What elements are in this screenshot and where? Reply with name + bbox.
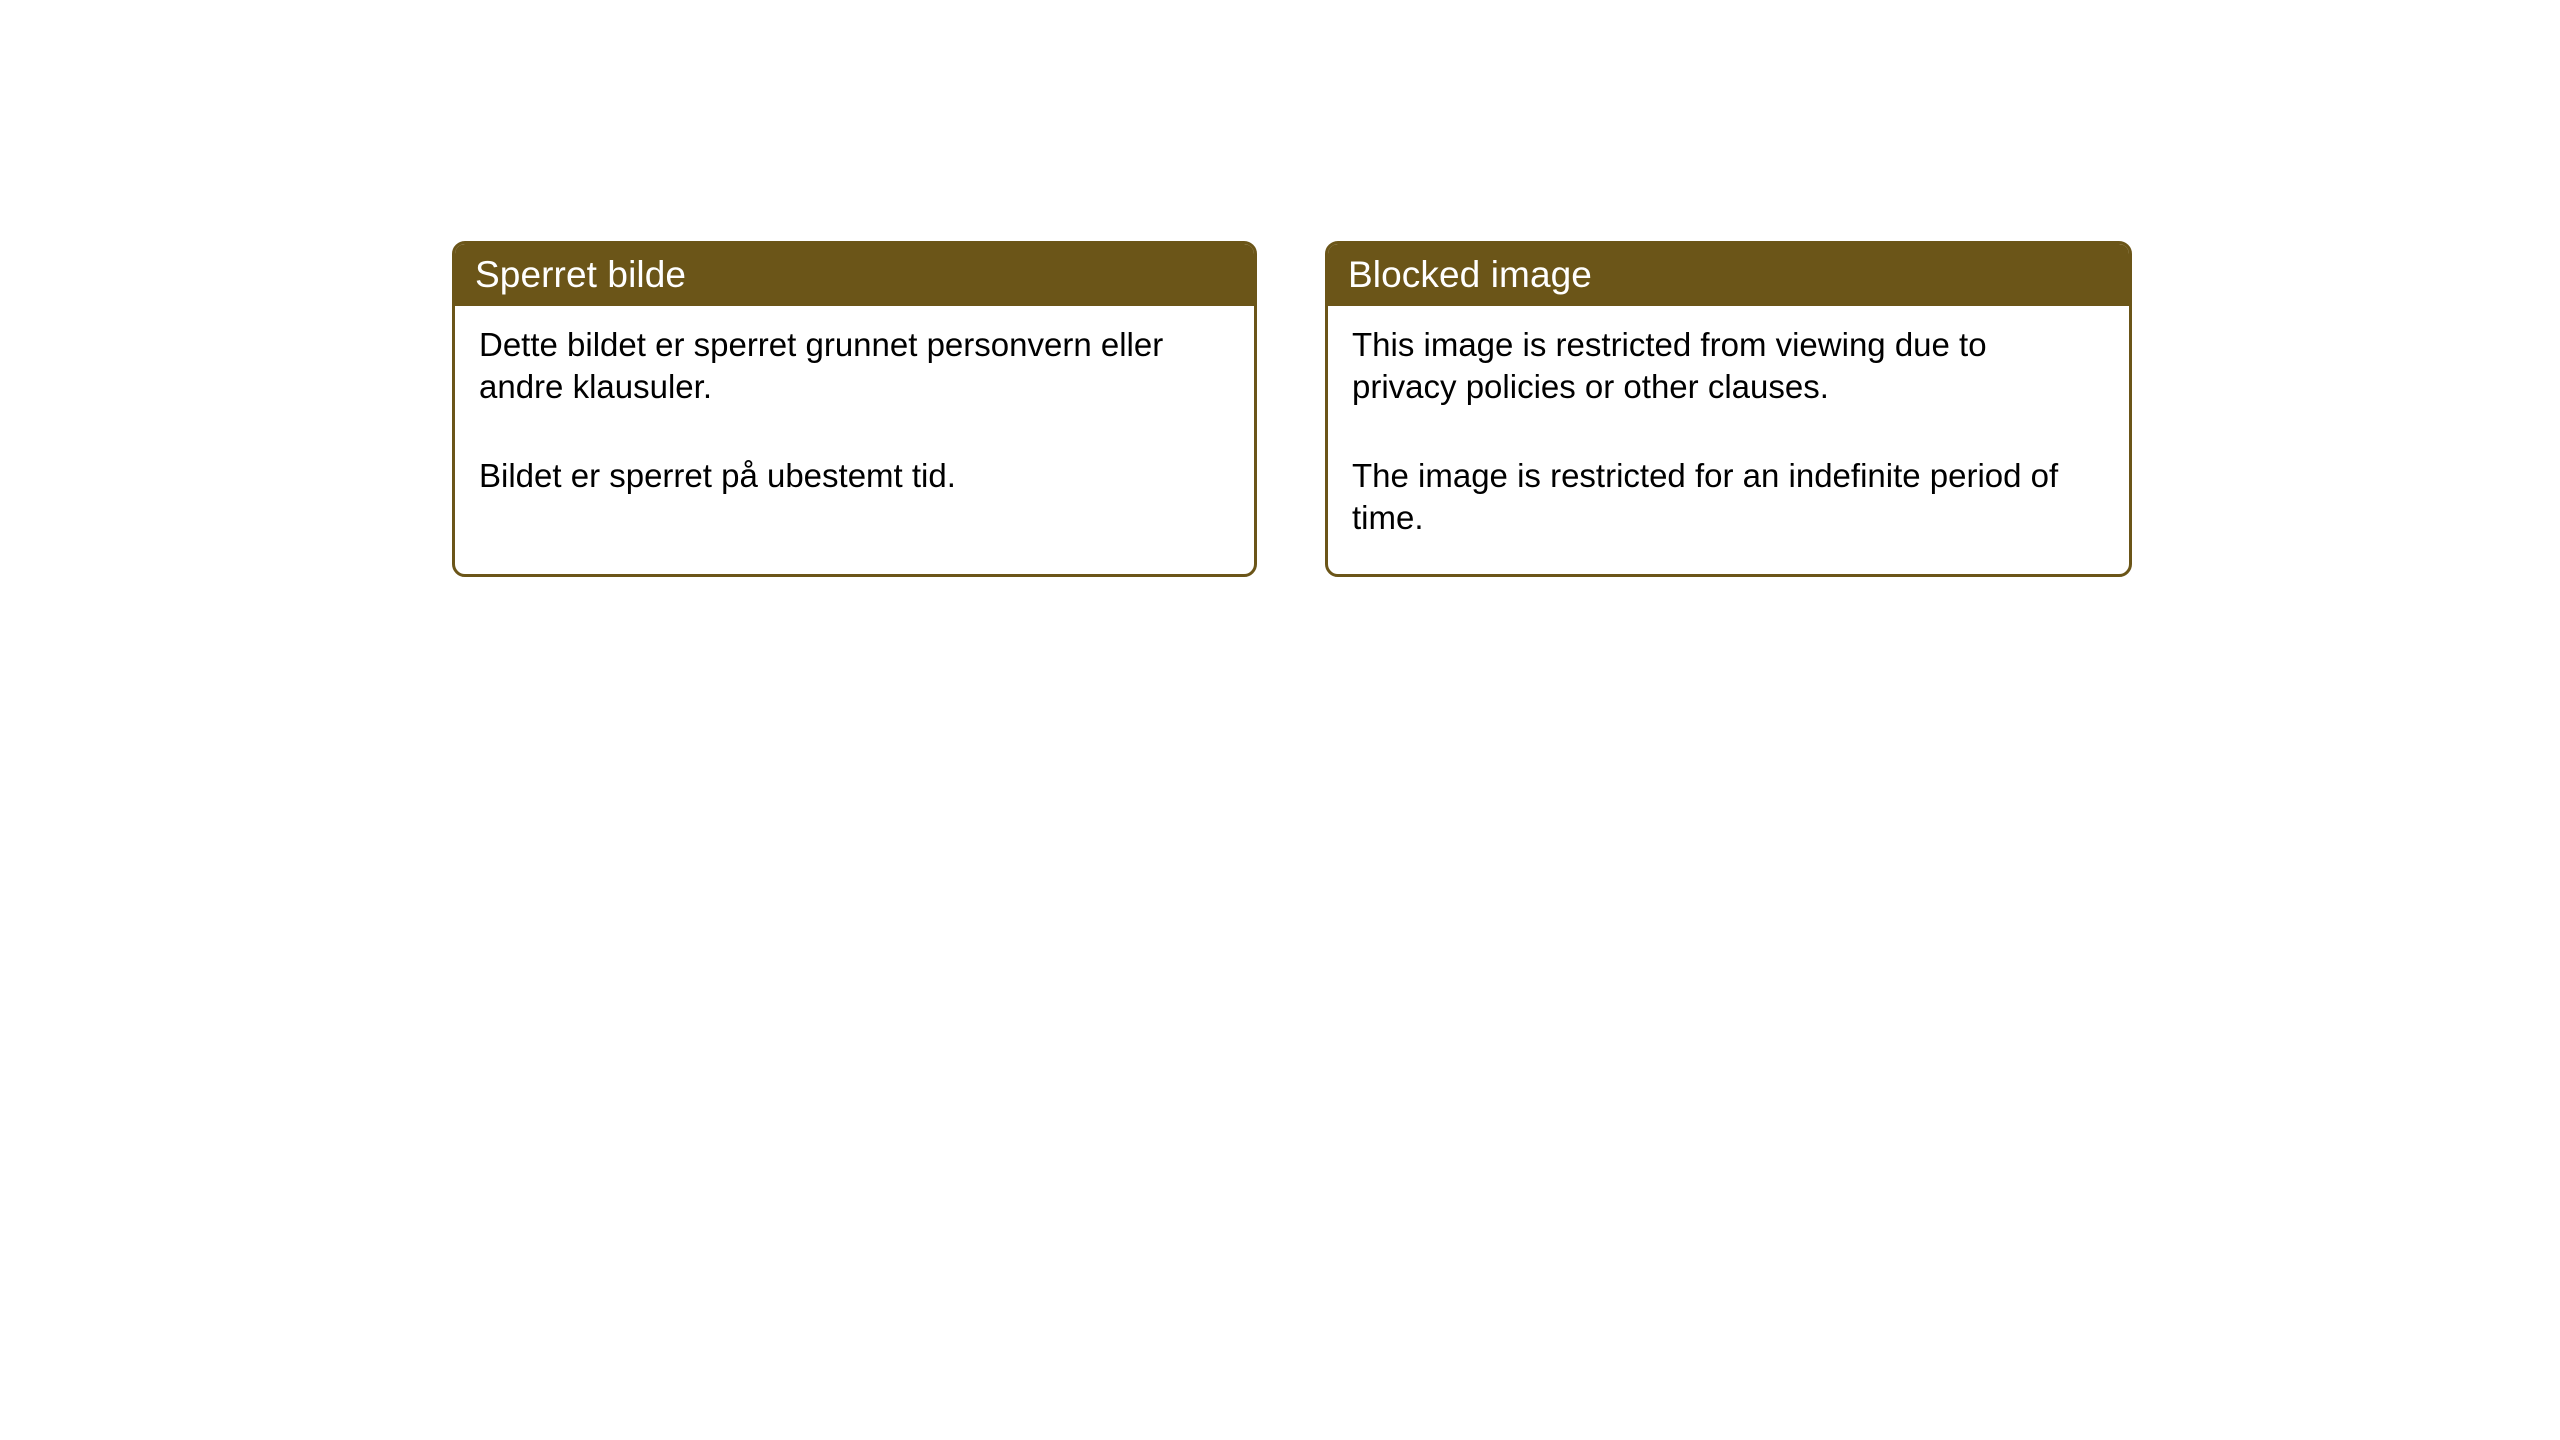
card-title-en: Blocked image xyxy=(1348,256,1592,293)
card-header-no: Sperret bilde xyxy=(454,243,1255,306)
card-paragraph-secondary-en: The image is restricted for an indefinit… xyxy=(1352,455,2092,538)
card-paragraph-secondary-no: Bildet er sperret på ubestemt tid. xyxy=(479,455,1219,497)
card-header-en: Blocked image xyxy=(1327,243,2130,306)
card-body-no: Dette bildet er sperret grunnet personve… xyxy=(455,306,1254,497)
card-body-en: This image is restricted from viewing du… xyxy=(1328,306,2129,538)
card-paragraph-primary-en: This image is restricted from viewing du… xyxy=(1352,324,2092,407)
page-canvas: Sperret bilde Dette bildet er sperret gr… xyxy=(0,0,2560,1440)
blocked-image-notice-card-no: Sperret bilde Dette bildet er sperret gr… xyxy=(452,241,1257,577)
card-title-no: Sperret bilde xyxy=(475,256,686,293)
blocked-image-notice-card-en: Blocked image This image is restricted f… xyxy=(1325,241,2132,577)
card-paragraph-primary-no: Dette bildet er sperret grunnet personve… xyxy=(479,324,1219,407)
